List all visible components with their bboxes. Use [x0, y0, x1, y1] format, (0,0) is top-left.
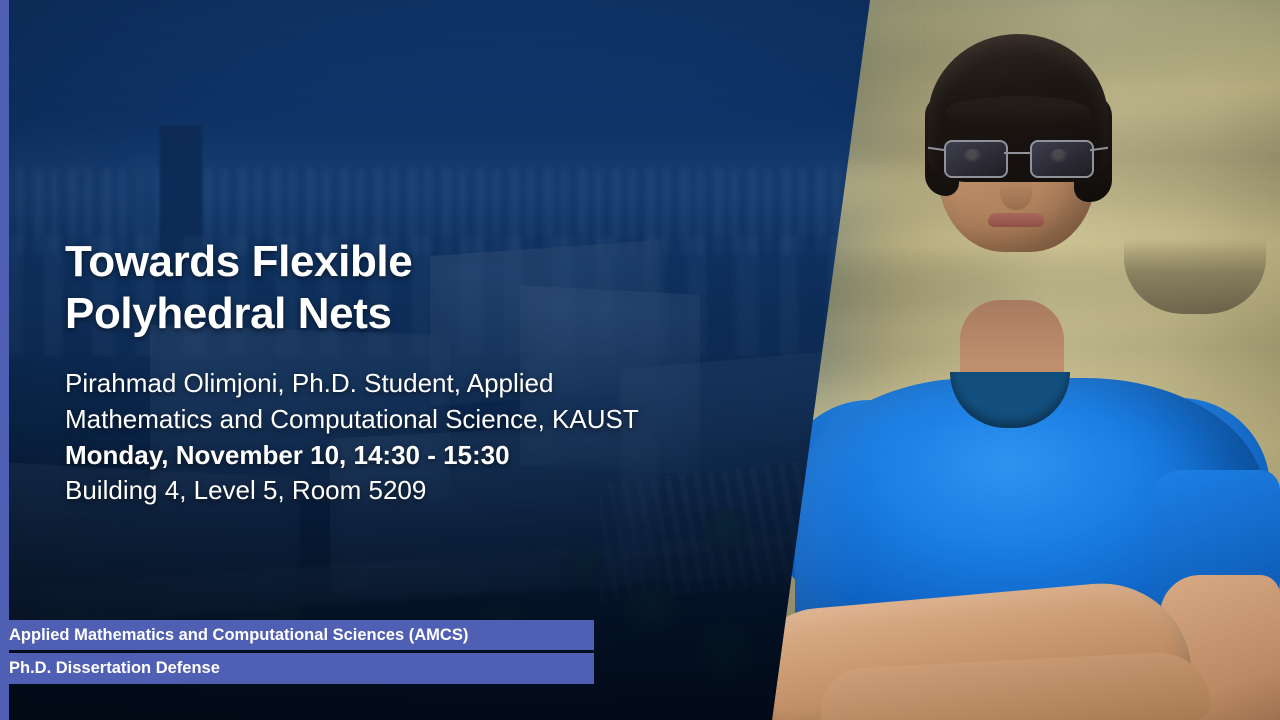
- event-type-banner: Ph.D. Dissertation Defense: [0, 653, 594, 684]
- left-accent-stripe: [0, 0, 9, 720]
- event-location: Building 4, Level 5, Room 5209: [65, 473, 675, 509]
- department-banner-label: Applied Mathematics and Computational Sc…: [9, 626, 468, 645]
- speaker-affiliation: Pirahmad Olimjoni, Ph.D. Student, Applie…: [65, 366, 675, 438]
- department-banner: Applied Mathematics and Computational Sc…: [0, 620, 594, 650]
- talk-title: Towards Flexible Polyhedral Nets: [65, 236, 675, 340]
- mouth: [988, 213, 1044, 227]
- eyeglasses-icon: [942, 140, 1094, 180]
- eyeglass-lens-left: [944, 140, 1008, 178]
- event-datetime: Monday, November 10, 14:30 - 15:30: [65, 438, 675, 474]
- eyeglass-lens-right: [1030, 140, 1094, 178]
- eyeglass-bridge: [1004, 152, 1032, 154]
- event-type-banner-label: Ph.D. Dissertation Defense: [9, 659, 220, 678]
- poster-text-block: Towards Flexible Polyhedral Nets Pirahma…: [65, 236, 675, 509]
- hair-fringe: [946, 96, 1090, 126]
- event-announcement-poster: Towards Flexible Polyhedral Nets Pirahma…: [0, 0, 1280, 720]
- beard-stubble: [1124, 238, 1266, 314]
